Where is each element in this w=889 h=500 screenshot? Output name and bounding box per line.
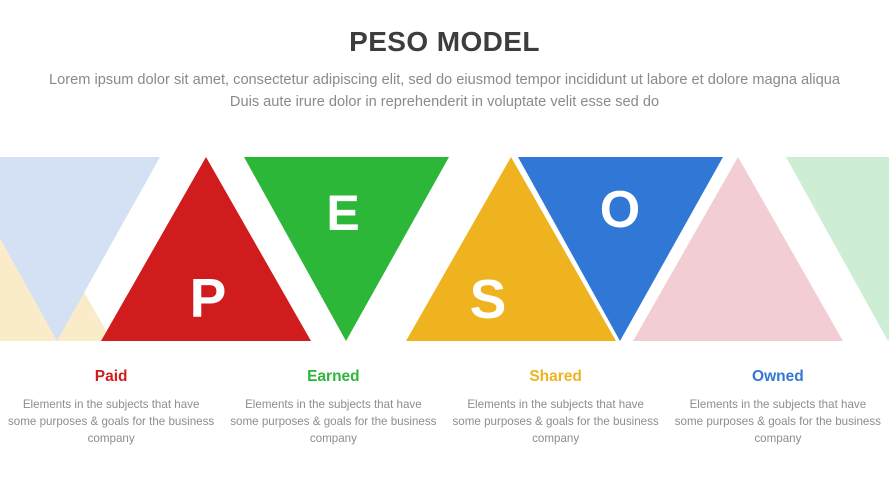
- label-column-shared: Shared Elements in the subjects that hav…: [445, 368, 667, 447]
- label-description-paid: Elements in the subjects that have some …: [8, 387, 214, 447]
- header: PESO MODEL Lorem ipsum dolor sit amet, c…: [0, 0, 889, 114]
- infographic-page: PESO MODEL Lorem ipsum dolor sit amet, c…: [0, 0, 889, 500]
- label-heading-earned: Earned: [230, 368, 436, 387]
- label-column-earned: Earned Elements in the subjects that hav…: [222, 368, 444, 447]
- letter-p: P: [190, 267, 227, 329]
- label-heading-owned: Owned: [675, 368, 881, 387]
- labels-row: Paid Elements in the subjects that have …: [0, 368, 889, 447]
- label-description-shared: Elements in the subjects that have some …: [453, 387, 659, 447]
- label-column-owned: Owned Elements in the subjects that have…: [667, 368, 889, 447]
- label-column-paid: Paid Elements in the subjects that have …: [0, 368, 222, 447]
- label-description-owned: Elements in the subjects that have some …: [675, 387, 881, 447]
- page-subtitle: Lorem ipsum dolor sit amet, consectetur …: [39, 58, 851, 114]
- letter-s: S: [470, 268, 507, 330]
- letter-e: E: [326, 185, 359, 241]
- label-description-earned: Elements in the subjects that have some …: [230, 387, 436, 447]
- page-title: PESO MODEL: [0, 0, 889, 58]
- triangle-band: P E S O: [0, 155, 889, 343]
- label-heading-shared: Shared: [453, 368, 659, 387]
- triangle-graphic: P E S O: [0, 155, 889, 343]
- label-heading-paid: Paid: [8, 368, 214, 387]
- letter-o: O: [600, 181, 640, 239]
